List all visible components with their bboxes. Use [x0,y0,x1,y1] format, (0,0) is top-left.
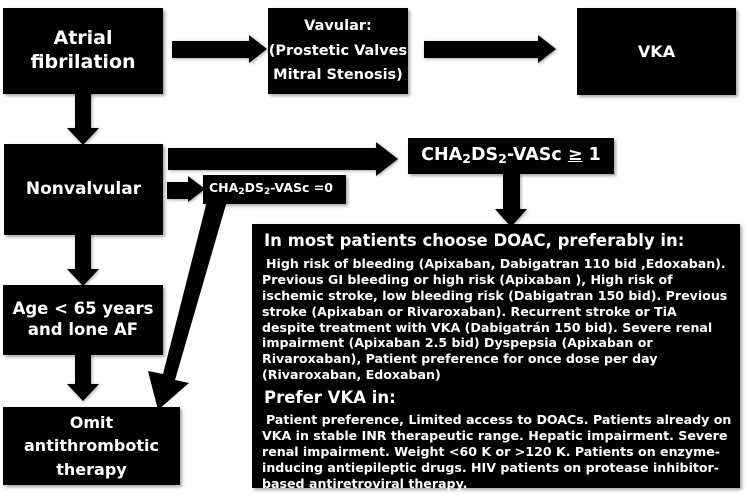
node-age-lone-af-line1: Age < 65 years [13,299,154,318]
chads-ge-one-value: 1 [583,145,601,165]
arrow-af-to-nonvalvular-shaft [75,93,91,131]
node-nonvalvular-label: Nonvalvular [26,179,141,200]
node-atrial-fibrillation-line2: fibrilation [30,51,135,73]
node-omit-therapy-line1: Omit [70,413,113,432]
node-chads-vasc-ge-one[interactable]: CHA2DS2-VASc ≥ 1 [408,138,614,174]
recommendation-panel[interactable]: In most patients choose DOAC, preferably… [252,224,740,488]
chads-ge-one-sub2: 2 [498,151,507,166]
arrow-af-to-valvular-head [249,35,267,63]
arrow-nonvalvular-to-age-shaft [75,234,91,272]
arrow-nonvalvular-to-chads-ge-one-shaft [168,148,380,170]
chads-ge-one-prefix: CHA [421,145,462,165]
recommendation-heading-doac: In most patients choose DOAC, preferably… [264,232,732,250]
chads-ge-one-sub1: 2 [462,151,471,166]
arrow-chads-ge-one-to-panel-shaft [503,173,520,213]
node-atrial-fibrillation[interactable]: Atrial fibrilation [3,8,163,94]
node-omit-therapy-line2: antithrombotic [24,436,159,455]
recommendation-heading-vka: Prefer VKA in: [264,389,732,407]
recommendation-body-vka: Patient preference, Limited access to DO… [262,412,732,491]
node-age-lone-af[interactable]: Age < 65 years and lone AF [3,285,163,355]
node-chads-vasc-ge-one-label: CHA2DS2-VASc ≥ 1 [421,145,601,167]
node-valvular[interactable]: Vavular: (Prostetic Valves Mitral Stenos… [268,8,408,94]
chads-zero-mid: DS [245,180,264,195]
node-vka[interactable]: VKA [577,8,736,95]
node-valvular-line3: Mitral Stenosis) [273,67,403,83]
node-chads-vasc-zero-label: CHA2DS2-VASc =0 [209,180,333,198]
node-age-lone-af-line2: and lone AF [28,320,138,339]
node-nonvalvular[interactable]: Nonvalvular [4,144,163,235]
arrow-nonvalvular-to-chads-ge-one-head [376,142,398,176]
arrow-valvular-to-vka-shaft [424,41,541,58]
arrow-nonvalvular-to-age-head [67,269,99,286]
recommendation-body-doac: High risk of bleeding (Apixaban, Dabigat… [262,256,732,383]
arrow-af-to-nonvalvular-head [67,128,99,145]
node-atrial-fibrillation-line1: Atrial [53,27,112,49]
chads-ge-one-suffix: -VASc [507,145,568,165]
chads-zero-prefix: CHA [209,180,238,195]
node-chads-vasc-zero[interactable]: CHA2DS2-VASc =0 [203,175,346,204]
node-vka-label: VKA [638,42,675,62]
flowchart-canvas: Atrial fibrilation Vavular: (Prostetic V… [0,0,750,495]
chads-zero-suffix: -VASc =0 [270,180,333,195]
node-omit-therapy-line3: therapy [56,460,126,479]
greater-equal-icon: ≥ [568,145,583,165]
node-valvular-line2: (Prostetic Valves [269,43,407,59]
chads-ge-one-mid: DS [471,145,498,165]
arrow-age-to-omit-shaft [75,354,91,387]
arrow-af-to-valvular-shaft [172,41,252,58]
arrow-valvular-to-vka-head [538,35,556,63]
node-valvular-line1: Vavular: [304,18,372,34]
arrow-age-to-omit-head [67,384,99,401]
node-omit-therapy[interactable]: Omit antithrombotic therapy [3,407,180,485]
